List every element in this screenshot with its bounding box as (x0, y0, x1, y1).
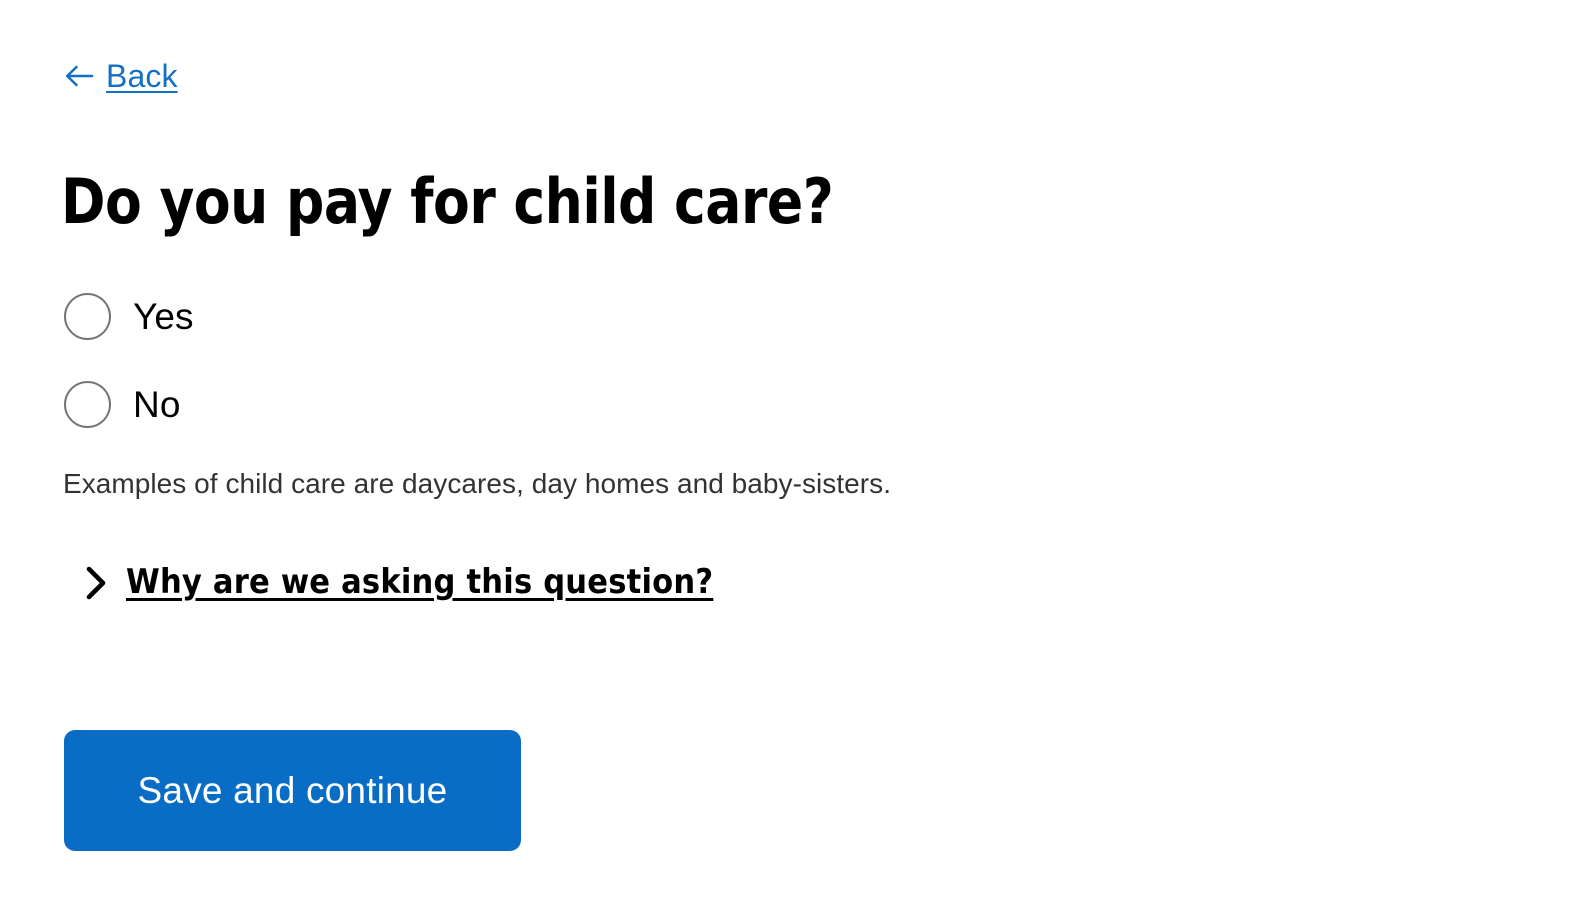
radio-option-yes[interactable]: Yes (64, 286, 764, 346)
save-and-continue-button[interactable]: Save and continue (64, 730, 521, 851)
arrow-left-icon (64, 63, 94, 89)
back-link-label: Back (106, 60, 178, 92)
chevron-right-icon (84, 566, 108, 600)
page-root: Back Do you pay for child care? Yes No E… (0, 0, 1596, 916)
radio-label-yes: Yes (133, 298, 194, 335)
radio-circle-no[interactable] (64, 381, 111, 428)
hint-text: Examples of child care are daycares, day… (63, 466, 891, 501)
disclosure-why-asking[interactable]: Why are we asking this question? (84, 564, 713, 601)
radio-circle-yes[interactable] (64, 293, 111, 340)
disclosure-label: Why are we asking this question? (126, 564, 713, 601)
back-link[interactable]: Back (64, 60, 178, 92)
radio-option-no[interactable]: No (64, 374, 764, 434)
page-title: Do you pay for child care? (61, 168, 833, 236)
radio-group-pay-for-child-care: Yes No (64, 286, 764, 434)
radio-label-no: No (133, 386, 181, 423)
